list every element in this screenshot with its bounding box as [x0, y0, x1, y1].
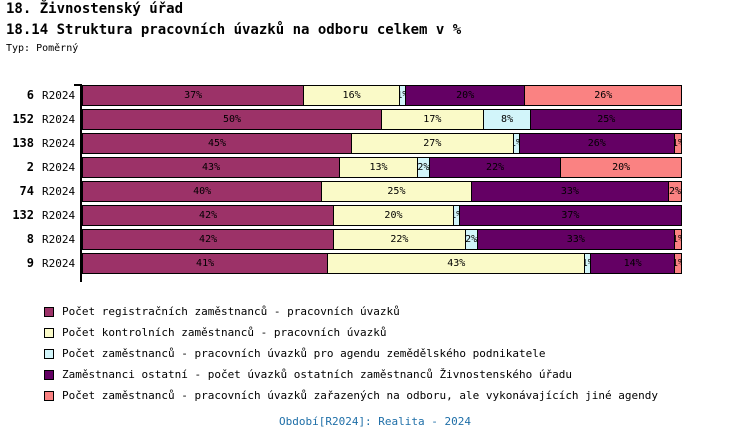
bar-segment[interactable]: 22% [430, 158, 562, 177]
chart-row: 152R202450%17%8%25% [0, 108, 750, 132]
plot-area: 6R202437%16%1%20%26%152R202450%17%8%25%1… [0, 84, 750, 284]
stacked-bar[interactable]: 45%27%1%26%1% [82, 133, 682, 154]
bar-segment[interactable]: 43% [328, 254, 585, 273]
bar-segment-label: 22% [486, 163, 504, 173]
bar-segment[interactable]: 45% [83, 134, 352, 153]
bar-segment[interactable]: 26% [520, 134, 675, 153]
chart-row: 8R202442%22%2%33%1% [0, 228, 750, 252]
bar-segment-label: 8% [501, 115, 513, 125]
bar-segment-label: 13% [369, 163, 387, 173]
stacked-bar[interactable]: 43%13%2%22%20% [82, 157, 682, 178]
chart-type-label: Typ: Poměrný [6, 43, 78, 54]
legend-swatch-icon [44, 370, 54, 380]
bar-segment-label: 1% [675, 235, 681, 245]
legend-swatch-icon [44, 307, 54, 317]
chart-row: 132R202442%20%1%37% [0, 204, 750, 228]
bar-segment-label: 16% [343, 91, 361, 101]
bar-segment-label: 2% [418, 163, 430, 173]
row-period-label: R2024 [42, 257, 75, 270]
period-note: Období[R2024]: Realita - 2024 [279, 415, 471, 428]
bar-segment-label: 1% [675, 259, 681, 269]
bar-segment-label: 2% [669, 187, 681, 197]
bar-segment-label: 42% [199, 235, 217, 245]
bar-segment[interactable]: 42% [83, 206, 334, 225]
bar-segment[interactable]: 20% [561, 158, 681, 177]
row-count-label: 2 [0, 160, 34, 174]
legend-item-label: Počet registračních zaměstnanců - pracov… [62, 305, 400, 318]
bar-segment-label: 33% [567, 235, 585, 245]
bar-segment-label: 37% [184, 91, 202, 101]
bar-segment[interactable]: 2% [466, 230, 478, 249]
bar-segment[interactable]: 42% [83, 230, 334, 249]
bar-segment[interactable]: 8% [484, 110, 532, 129]
bar-segment-label: 26% [588, 139, 606, 149]
bar-segment-label: 50% [223, 115, 241, 125]
chart-title: 18.14 Struktura pracovních úvazků na odb… [6, 22, 461, 38]
legend-item-label: Zaměstnanci ostatní - počet úvazků ostat… [62, 368, 572, 381]
bar-segment-label: 26% [594, 91, 612, 101]
bar-segment-label: 20% [384, 211, 402, 221]
chart-footer: Období[R2024]: Realita - 2024 [0, 410, 750, 429]
row-period-label: R2024 [42, 233, 75, 246]
bar-segment[interactable]: 17% [382, 110, 484, 129]
bar-segment[interactable]: 1% [675, 254, 681, 273]
bar-segment-label: 45% [208, 139, 226, 149]
bar-segment-label: 20% [456, 91, 474, 101]
bar-segment[interactable]: 37% [83, 86, 304, 105]
chart-row: 9R202441%43%1%14%1% [0, 252, 750, 276]
bar-segment[interactable]: 26% [525, 86, 680, 105]
stacked-bar[interactable]: 41%43%1%14%1% [82, 253, 682, 274]
bar-segment-label: 37% [561, 211, 579, 221]
bar-segment[interactable]: 25% [531, 110, 681, 129]
bar-segment[interactable]: 1% [675, 230, 681, 249]
row-period-label: R2024 [42, 113, 75, 126]
legend-swatch-icon [44, 391, 54, 401]
chart-row: 74R202440%25%33%2% [0, 180, 750, 204]
stacked-bar[interactable]: 50%17%8%25% [82, 109, 682, 130]
bar-segment-label: 33% [561, 187, 579, 197]
bar-segment[interactable]: 13% [340, 158, 418, 177]
row-count-label: 132 [0, 208, 34, 222]
bar-segment[interactable]: 20% [406, 86, 526, 105]
legend-item[interactable]: Zaměstnanci ostatní - počet úvazků ostat… [44, 366, 704, 387]
row-period-label: R2024 [42, 161, 75, 174]
bar-segment[interactable]: 20% [334, 206, 454, 225]
bar-segment[interactable]: 37% [460, 206, 681, 225]
chart-row: 138R202445%27%1%26%1% [0, 132, 750, 156]
bar-segment[interactable]: 50% [83, 110, 382, 129]
bar-segment[interactable]: 25% [322, 182, 472, 201]
row-count-label: 138 [0, 136, 34, 150]
legend-swatch-icon [44, 349, 54, 359]
bar-segment-label: 27% [423, 139, 441, 149]
chart-container: 18. Živnostenský úřad 18.14 Struktura pr… [0, 0, 750, 434]
row-count-label: 6 [0, 88, 34, 102]
bar-segment[interactable]: 27% [352, 134, 513, 153]
bar-segment-label: 43% [202, 163, 220, 173]
bar-segment[interactable]: 40% [83, 182, 322, 201]
bar-segment[interactable]: 14% [591, 254, 675, 273]
bar-segment-label: 40% [193, 187, 211, 197]
bar-segment[interactable]: 33% [478, 230, 675, 249]
bar-segment-label: 42% [199, 211, 217, 221]
row-period-label: R2024 [42, 185, 75, 198]
bar-segment-label: 25% [387, 187, 405, 197]
bar-segment-label: 2% [466, 235, 478, 245]
bar-segment-label: 20% [612, 163, 630, 173]
row-period-label: R2024 [42, 137, 75, 150]
page-title: 18. Živnostenský úřad [6, 1, 183, 17]
legend-item[interactable]: Počet zaměstnanců - pracovních úvazků za… [44, 387, 704, 408]
legend-swatch-icon [44, 328, 54, 338]
row-period-label: R2024 [42, 89, 75, 102]
bar-segment[interactable]: 2% [418, 158, 430, 177]
bar-segment-label: 17% [423, 115, 441, 125]
bar-segment[interactable]: 16% [304, 86, 400, 105]
bar-segment[interactable]: 1% [675, 134, 681, 153]
row-count-label: 9 [0, 256, 34, 270]
legend-item-label: Počet zaměstnanců - pracovních úvazků pr… [62, 347, 545, 360]
legend-item[interactable]: Počet zaměstnanců - pracovních úvazků pr… [44, 345, 704, 366]
bar-segment-label: 22% [390, 235, 408, 245]
row-count-label: 74 [0, 184, 34, 198]
bar-segment-label: 43% [447, 259, 465, 269]
row-period-label: R2024 [42, 209, 75, 222]
bar-segment[interactable]: 2% [669, 182, 681, 201]
row-count-label: 8 [0, 232, 34, 246]
chart-legend: Počet registračních zaměstnanců - pracov… [44, 303, 704, 408]
bar-segment[interactable]: 33% [472, 182, 669, 201]
stacked-bar[interactable]: 40%25%33%2% [82, 181, 682, 202]
bar-segment[interactable]: 43% [83, 158, 340, 177]
legend-item[interactable]: Počet kontrolních zaměstnanců - pracovní… [44, 324, 704, 345]
bar-segment[interactable]: 41% [83, 254, 328, 273]
row-count-label: 152 [0, 112, 34, 126]
bar-segment-label: 1% [675, 139, 681, 149]
chart-row: 6R202437%16%1%20%26% [0, 84, 750, 108]
bar-segment[interactable]: 22% [334, 230, 466, 249]
stacked-bar[interactable]: 42%20%1%37% [82, 205, 682, 226]
legend-item[interactable]: Počet registračních zaměstnanců - pracov… [44, 303, 704, 324]
bar-segment-label: 25% [597, 115, 615, 125]
chart-row: 2R202443%13%2%22%20% [0, 156, 750, 180]
stacked-bar[interactable]: 37%16%1%20%26% [82, 85, 682, 106]
legend-item-label: Počet kontrolních zaměstnanců - pracovní… [62, 326, 387, 339]
bar-segment-label: 14% [624, 259, 642, 269]
stacked-bar[interactable]: 42%22%2%33%1% [82, 229, 682, 250]
bar-segment-label: 41% [196, 259, 214, 269]
legend-item-label: Počet zaměstnanců - pracovních úvazků za… [62, 389, 658, 402]
